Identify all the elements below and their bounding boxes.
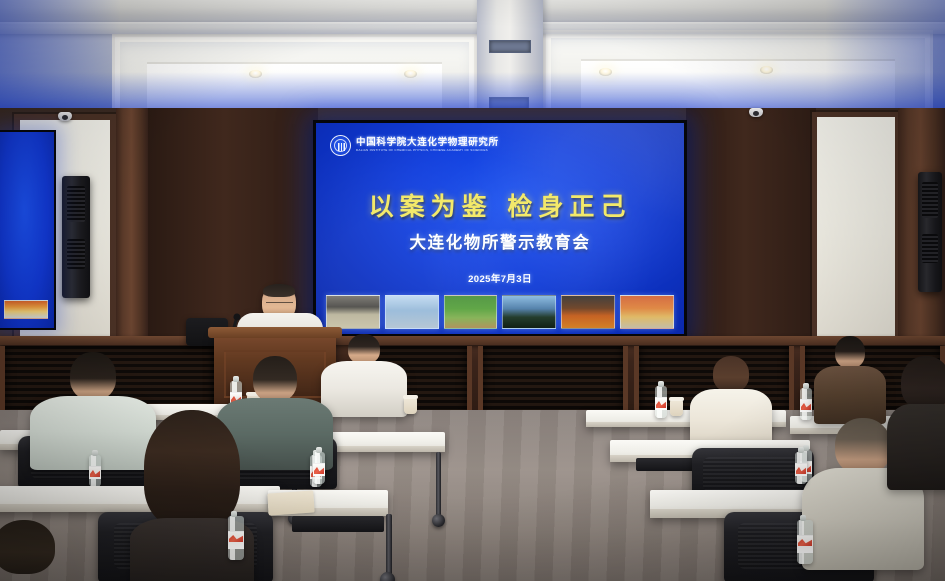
attendee-2-head <box>253 356 297 402</box>
camera-icon <box>58 112 72 121</box>
bottle-label <box>800 399 812 412</box>
water-bottle <box>795 452 807 484</box>
slide-date: 2025年7月3日 <box>316 271 684 285</box>
ceiling-vent <box>489 40 531 53</box>
wall-panel-right <box>812 112 900 352</box>
bottle-label <box>228 531 244 549</box>
notepad <box>267 490 314 515</box>
table-leg <box>436 452 441 516</box>
attendee-9-head <box>0 520 55 574</box>
thumbnail-5 <box>561 295 615 329</box>
left-side-display <box>0 130 56 330</box>
water-bottle <box>797 520 813 564</box>
bottle-label <box>795 463 807 476</box>
table-leg <box>386 514 392 576</box>
attendee-3-head <box>348 334 380 364</box>
attendee-8-body <box>887 404 945 490</box>
attendee-8 <box>886 356 945 486</box>
attendee-6 <box>812 336 888 420</box>
attendee-6-head <box>835 336 865 368</box>
water-bottle <box>89 455 101 487</box>
ceiling-beam-upper <box>0 22 945 34</box>
wall-speaker-right <box>918 172 942 292</box>
bottle-label <box>313 463 325 476</box>
thumbnail-2 <box>385 295 439 329</box>
paper-cup <box>404 398 417 414</box>
thumbnail-4 <box>502 295 556 329</box>
attendee-5 <box>688 356 774 446</box>
table-cable-module <box>292 516 384 532</box>
bottle-label <box>797 535 813 553</box>
speaker-grill-upper-right <box>922 182 937 218</box>
thumbnail-3 <box>444 295 498 329</box>
conference-room-scene: 中国科学院大连化学物理研究所 DALIAN INSTITUTE OF CHEMI… <box>0 0 945 581</box>
left-side-thumbnail <box>4 300 48 319</box>
attendee-4-hair <box>144 410 240 528</box>
water-bottle <box>800 388 812 420</box>
water-bottle <box>228 516 244 560</box>
presenter-glasses <box>266 302 293 308</box>
ceiling <box>0 0 945 118</box>
wall-wood-panel-right-mid <box>686 108 816 358</box>
wall-speaker-left <box>62 176 90 298</box>
bottle-label <box>655 397 667 410</box>
bottle-label <box>89 466 101 479</box>
institute-name-en: DALIAN INSTITUTE OF CHEMICAL PHYSICS, CH… <box>356 149 499 153</box>
speaker-grill-lower-left <box>67 239 85 268</box>
left-side-display-surface <box>0 132 54 328</box>
attendee-9 <box>0 520 72 581</box>
attendee-1-head <box>70 352 116 400</box>
ceiling-beam-top <box>0 0 945 24</box>
paper-cup <box>670 400 683 416</box>
attendee-7-head <box>835 418 891 474</box>
water-bottle <box>655 386 667 418</box>
dais-louver-mid-right <box>478 346 628 412</box>
attendee-5-head <box>713 356 749 392</box>
cup-lid <box>669 397 684 401</box>
thumbnail-1 <box>326 295 380 329</box>
attendee-8-head <box>901 356 945 410</box>
cup-lid <box>403 395 418 399</box>
wall-wood-column-left <box>116 108 148 358</box>
institute-logo-text: 中国科学院大连化学物理研究所 DALIAN INSTITUTE OF CHEMI… <box>356 138 499 153</box>
dais-top-edge <box>0 336 945 345</box>
slide-main-title: 以案为鉴 检身正己 <box>316 187 684 223</box>
presentation-screen-surface: 中国科学院大连化学物理研究所 DALIAN INSTITUTE OF CHEMI… <box>316 123 684 334</box>
water-bottle <box>313 452 325 484</box>
slide-thumbnail-strip <box>326 295 674 329</box>
institute-seal-icon <box>330 135 351 156</box>
speaker-grill-upper-left <box>67 186 85 223</box>
attendee-6-body <box>814 366 886 424</box>
slide-subtitle: 大连化物所警示教育会 <box>316 229 684 253</box>
camera-icon-right <box>749 108 763 117</box>
institute-name-cn: 中国科学院大连化学物理研究所 <box>356 138 499 148</box>
table-caster <box>432 514 445 527</box>
presentation-screen: 中国科学院大连化学物理研究所 DALIAN INSTITUTE OF CHEMI… <box>313 120 687 337</box>
institute-logo: 中国科学院大连化学物理研究所 DALIAN INSTITUTE OF CHEMI… <box>330 135 499 156</box>
speaker-grill-lower-right <box>922 234 937 263</box>
thumbnail-6 <box>620 295 674 329</box>
table-caster <box>380 572 395 581</box>
